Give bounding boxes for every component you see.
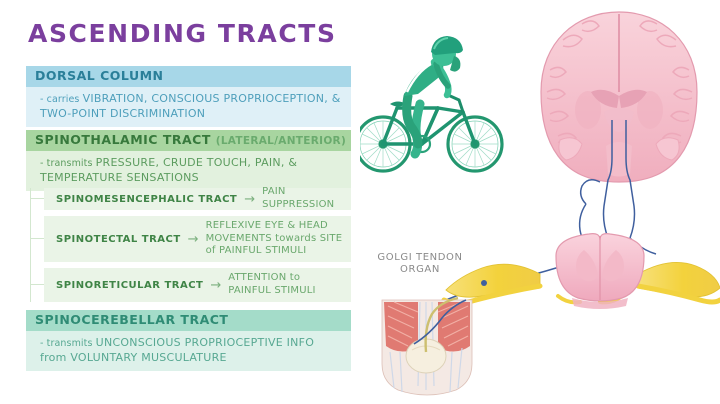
- tract-body-lead-dorsal-column: - carries: [40, 94, 83, 105]
- sub-tract-description-spinoreticular: ATTENTION to PAINFUL STIMULI: [228, 272, 343, 298]
- tracts-text-column: DORSAL COLUMN - carries VIBRATION, CONSC…: [0, 0, 368, 404]
- sub-tract-name-spinomesencephalic: SPINOMESENCEPHALIC TRACT: [56, 194, 237, 205]
- sub-tract-name-spinoreticular: SPINORETICULAR TRACT: [56, 280, 203, 291]
- sub-tract-row-spinotectal: SPINOTECTAL TRACT → REFLEXIVE EYE & HEAD…: [44, 216, 351, 262]
- bracket-stub-2: [31, 238, 45, 239]
- tract-body-dorsal-column: - carries VIBRATION, CONSCIOUS PROPRIOCE…: [26, 87, 351, 127]
- sub-tract-name-spinotectal: SPINOTECTAL TRACT: [56, 234, 181, 245]
- tract-block-dorsal-column: DORSAL COLUMN - carries VIBRATION, CONSC…: [26, 66, 351, 127]
- tract-name-spinocerebellar-tract: SPINOCEREBELLAR TRACT: [35, 312, 228, 327]
- sub-tract-description-spinotectal: REFLEXIVE EYE & HEAD MOVEMENTS towards S…: [206, 220, 343, 258]
- tract-block-spinothalamic-tract: SPINOTHALAMIC TRACT (LATERAL/ANTERIOR) -…: [26, 130, 351, 191]
- brain-coronal-section-illustration: [541, 12, 697, 182]
- arrow-icon: →: [244, 193, 255, 206]
- tract-qualifier-spinothalamic-tract: (LATERAL/ANTERIOR): [216, 135, 346, 147]
- tract-body-lead-spinocerebellar-tract: - transmits: [40, 338, 96, 349]
- cyclist-illustration: [360, 36, 502, 171]
- muscle-tendon-tissue-illustration: [382, 298, 472, 395]
- tract-body-spinocerebellar-tract: - transmits UNCONSCIOUS PROPRIOCEPTIVE I…: [26, 331, 351, 371]
- tract-name-spinothalamic-tract: SPINOTHALAMIC TRACT: [35, 132, 211, 147]
- bracket-stub-1: [31, 198, 45, 199]
- sub-tract-row-spinomesencephalic: SPINOMESENCEPHALIC TRACT → PAIN SUPPRESS…: [44, 188, 351, 210]
- tract-header-spinothalamic-tract: SPINOTHALAMIC TRACT (LATERAL/ANTERIOR): [26, 130, 351, 151]
- tract-header-spinocerebellar-tract: SPINOCEREBELLAR TRACT: [26, 310, 351, 331]
- illustration-panel: GOLGI TENDON ORGAN: [360, 0, 720, 404]
- sub-tract-row-spinoreticular: SPINORETICULAR TRACT → ATTENTION to PAIN…: [44, 268, 351, 302]
- bracket-stub-3: [31, 284, 45, 285]
- golgi-tendon-organ-label: GOLGI TENDON ORGAN: [374, 252, 466, 276]
- slide-canvas: ASCENDING TRACTS DORSAL COLUMN - carries…: [0, 0, 720, 404]
- arrow-icon: →: [210, 279, 221, 292]
- tract-block-spinocerebellar-tract: SPINOCEREBELLAR TRACT - transmits UNCONS…: [26, 310, 351, 371]
- tract-header-dorsal-column: DORSAL COLUMN: [26, 66, 351, 87]
- sub-tract-description-spinomesencephalic: PAIN SUPPRESSION: [262, 186, 343, 212]
- tract-body-lead-spinothalamic-tract: - transmits: [40, 158, 96, 169]
- tract-name-dorsal-column: DORSAL COLUMN: [35, 68, 164, 83]
- arrow-icon: →: [188, 233, 199, 246]
- sub-tract-bracket: [30, 188, 44, 302]
- tract-body-text-dorsal-column: VIBRATION, CONSCIOUS PROPRIOCEPTION, & T…: [40, 92, 341, 120]
- spinal-cord-cross-section-illustration: [444, 234, 720, 309]
- illustration-svg: [360, 0, 720, 404]
